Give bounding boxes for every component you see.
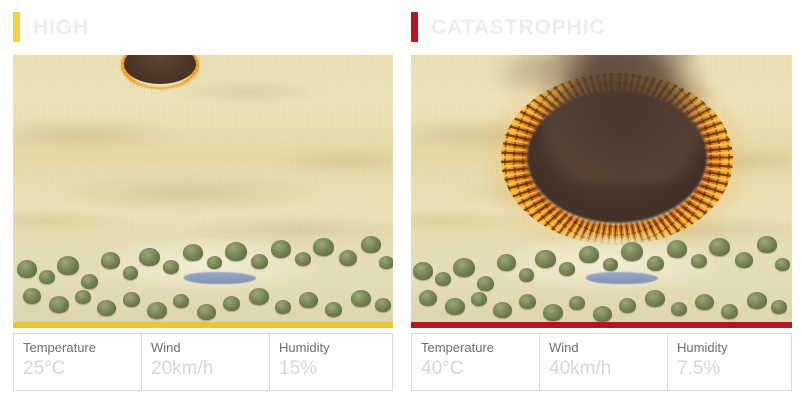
tree-icon [225,242,247,261]
tree-icon [339,250,357,266]
tree-icon [313,238,334,256]
tree-icon [603,258,618,271]
stat-value-humidity-high: 15% [279,357,392,381]
severity-separator-bar-high [13,322,393,328]
tree-icon [519,294,536,309]
stat-wind-high: Wind 20km/h [142,334,270,390]
panel-high-header: HIGH [13,12,89,42]
tree-icon [757,236,777,253]
tree-icon [735,252,753,268]
tree-icon [413,262,433,280]
tree-icon [97,300,116,316]
tree-icon [275,300,291,314]
tree-icon [361,236,381,253]
stat-value-temperature-catastrophic: 40°C [421,357,539,381]
panel-high-inner: HIGH [13,0,393,405]
stat-value-humidity-catastrophic: 7.5% [677,357,791,381]
tree-icon [207,256,222,269]
fire-risk-comparison-board: HIGH [0,0,802,405]
panel-high[interactable]: HIGH [0,0,401,405]
tree-icon [775,258,790,271]
stat-label-temperature-high: Temperature [23,340,141,356]
scene-high[interactable] [13,55,393,322]
tree-icon [351,290,371,307]
stat-temperature-catastrophic: Temperature 40°C [412,334,540,390]
tree-icon [647,256,664,271]
panel-title-catastrophic: CATASTROPHIC [431,17,606,38]
stat-value-temperature-high: 25°C [23,357,141,381]
fire-front-small-icon [121,55,199,89]
panel-catastrophic-header: CATASTROPHIC [411,12,606,42]
tree-icon [197,304,216,320]
vegetation-band-high [13,230,393,322]
tree-icon [419,290,437,306]
stat-wind-catastrophic: Wind 40km/h [540,334,668,390]
tree-icon [223,296,240,311]
tree-icon [81,274,98,289]
tree-icon [123,266,138,280]
vegetation-band-catastrophic [411,230,792,322]
water-body-catastrophic-icon [586,272,658,284]
tree-icon [49,296,69,313]
stat-value-wind-catastrophic: 40km/h [549,357,667,381]
tree-icon [493,302,512,318]
tree-icon [543,304,563,321]
water-body-high-icon [184,272,256,284]
severity-accent-bar-catastrophic [411,12,418,42]
tree-icon [271,240,291,258]
tree-icon [747,292,767,309]
tree-icon [101,252,120,269]
tree-icon [621,242,643,261]
tree-icon [75,290,91,304]
tree-icon [173,294,189,308]
tree-icon [183,244,203,261]
tree-icon [249,288,269,305]
stat-humidity-high: Humidity 15% [270,334,392,390]
tree-icon [379,256,393,269]
stat-label-humidity-high: Humidity [279,340,392,356]
tree-icon [695,294,714,310]
stat-temperature-high: Temperature 25°C [14,334,142,390]
tree-icon [477,276,494,291]
tree-icon [559,262,575,276]
stat-label-humidity-catastrophic: Humidity [677,340,791,356]
tree-icon [17,260,37,278]
scene-catastrophic[interactable] [411,55,792,322]
tree-icon [251,254,268,269]
tree-icon [519,268,534,282]
tree-icon [569,296,585,310]
tree-icon [445,298,465,315]
severity-accent-bar-high [13,12,20,42]
tree-icon [139,248,160,266]
tree-icon [123,292,140,307]
severity-separator-bar-catastrophic [411,322,792,328]
tree-icon [295,252,311,266]
tree-icon [23,288,41,304]
stat-humidity-catastrophic: Humidity 7.5% [668,334,791,390]
tree-icon [771,300,787,314]
tree-icon [57,256,79,275]
tree-icon [39,270,55,284]
stats-bar-catastrophic: Temperature 40°C Wind 40km/h Humidity 7.… [411,333,792,391]
tree-icon [721,304,738,319]
tree-icon [471,292,487,306]
tree-icon [163,260,179,274]
tree-icon [497,254,516,271]
tree-icon [299,292,318,308]
tree-icon [667,240,687,258]
tree-icon [147,302,167,319]
tree-icon [709,238,730,256]
tree-icon [435,272,451,286]
stat-value-wind-high: 20km/h [151,357,269,381]
tree-icon [593,306,612,322]
tree-icon [453,258,475,277]
tree-icon [619,298,636,313]
panel-catastrophic[interactable]: CATASTROPHIC [401,0,802,405]
panel-title-high: HIGH [33,17,89,38]
stats-bar-high: Temperature 25°C Wind 20km/h Humidity 15… [13,333,393,391]
stat-label-wind-high: Wind [151,340,269,356]
tree-icon [375,298,391,312]
tree-icon [325,302,342,317]
tree-icon [671,302,687,316]
tree-icon [691,254,707,268]
panel-catastrophic-inner: CATASTROPHIC [411,0,792,405]
stat-label-temperature-catastrophic: Temperature [421,340,539,356]
tree-icon [645,290,665,307]
tree-icon [535,250,556,268]
tree-icon [579,246,599,263]
stat-label-wind-catastrophic: Wind [549,340,667,356]
